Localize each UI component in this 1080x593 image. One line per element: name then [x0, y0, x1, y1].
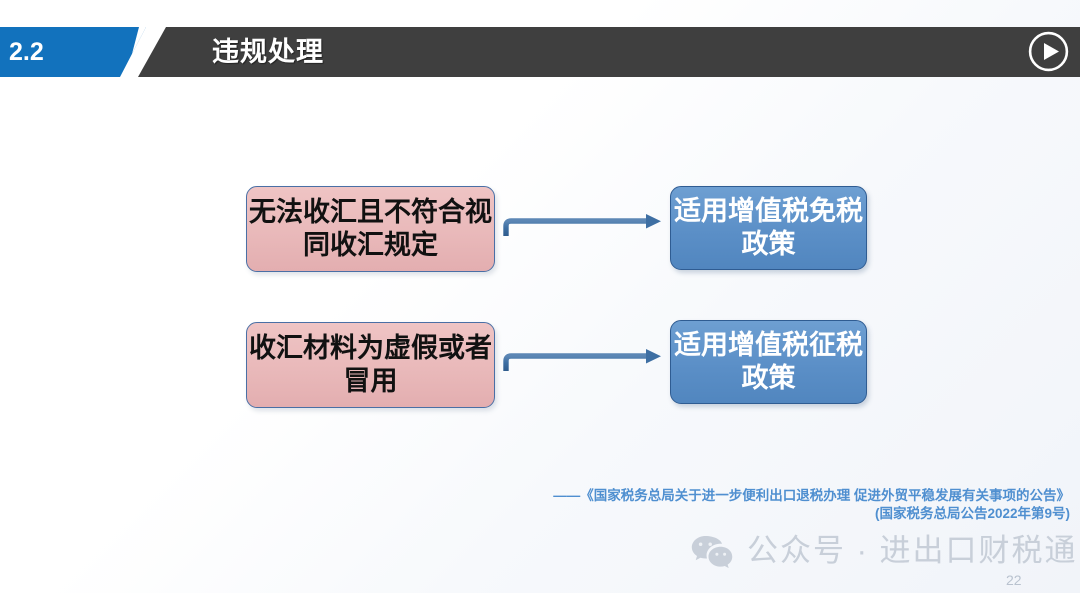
condition-box-2-label: 收汇材料为虚假或者冒用: [247, 332, 494, 398]
page-title: 违规处理: [212, 37, 324, 67]
result-box-2-label: 适用增值税征税政策: [671, 329, 866, 395]
slide-canvas: 2.2 违规处理 无法收汇且不符合视同收汇规定 适用增值税免税政策 收汇材料为虚…: [0, 0, 1080, 593]
source-footnote-line1: ——《国家税务总局关于进一步便利出口退税办理 促进外贸平稳发展有关事项的公告》: [553, 488, 1070, 503]
section-number-label: 2.2: [9, 38, 44, 66]
source-footnote-line2: (国家税务总局公告2022年第9号): [330, 505, 1070, 523]
slide-header: 2.2 违规处理: [0, 27, 1080, 77]
watermark: 公众号 · 进出口财税通: [690, 533, 1078, 569]
page-number: 22: [1006, 572, 1022, 588]
watermark-label: 公众号 · 进出口财税通: [747, 533, 1078, 569]
connector-arrow-2: [498, 340, 668, 380]
condition-box-2[interactable]: 收汇材料为虚假或者冒用: [246, 322, 495, 408]
wechat-icon: [690, 534, 734, 568]
result-box-1[interactable]: 适用增值税免税政策: [670, 186, 867, 270]
condition-box-1-label: 无法收汇且不符合视同收汇规定: [247, 196, 494, 262]
play-circle-icon[interactable]: [1028, 31, 1069, 72]
condition-box-1[interactable]: 无法收汇且不符合视同收汇规定: [246, 186, 495, 272]
source-footnote: ——《国家税务总局关于进一步便利出口退税办理 促进外贸平稳发展有关事项的公告》 …: [330, 487, 1070, 523]
result-box-2[interactable]: 适用增值税征税政策: [670, 320, 867, 404]
result-box-1-label: 适用增值税免税政策: [671, 195, 866, 261]
connector-arrow-1: [498, 205, 668, 245]
